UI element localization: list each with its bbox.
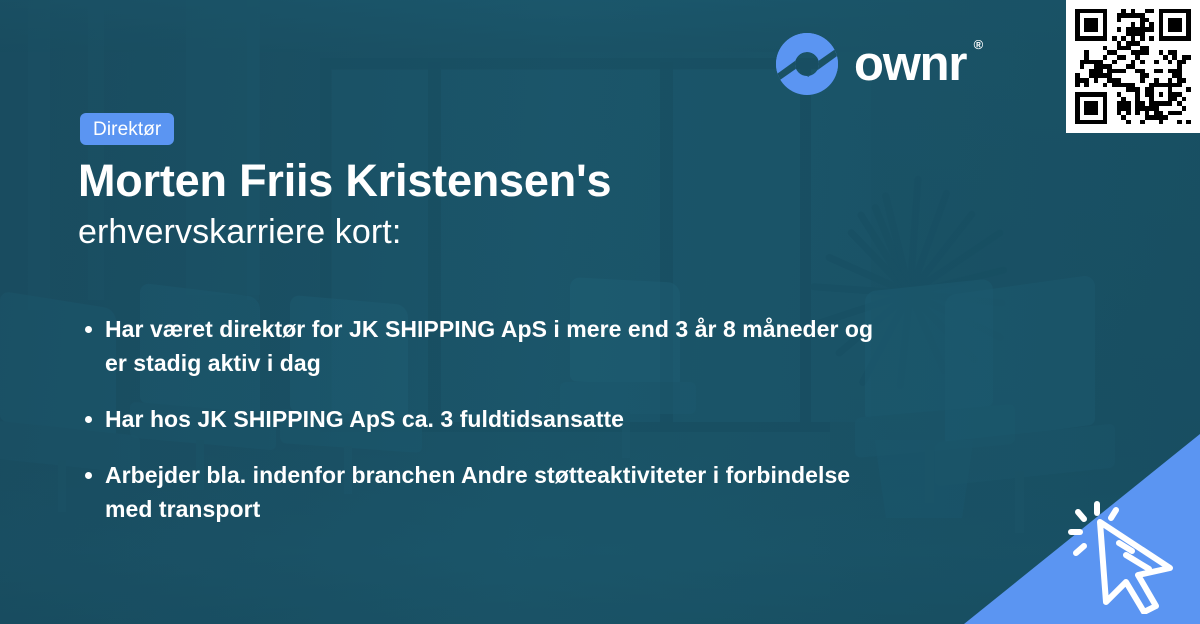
click-cursor-icon (1066, 496, 1186, 614)
bullet-icon (85, 472, 92, 479)
bullet-icon (85, 326, 92, 333)
title-line-2: erhvervskarriere kort: (78, 210, 898, 256)
page-title: Morten Friis Kristensen's erhvervskarrie… (78, 155, 898, 256)
list-item: Arbejder bla. indenfor branchen Andre st… (80, 458, 880, 526)
role-badge: Direktør (80, 113, 174, 145)
list-item: Har været direktør for JK SHIPPING ApS i… (80, 312, 880, 380)
qr-code[interactable] (1066, 0, 1200, 133)
business-card-banner: Direktør Morten Friis Kristensen's erhve… (0, 0, 1200, 624)
bullet-icon (85, 416, 92, 423)
list-item-text: Har hos JK SHIPPING ApS ca. 3 fuldtidsan… (105, 406, 624, 432)
card-content: Direktør Morten Friis Kristensen's erhve… (0, 0, 1200, 624)
list-item-text: Arbejder bla. indenfor branchen Andre st… (105, 462, 850, 522)
list-item-text: Har været direktør for JK SHIPPING ApS i… (105, 316, 873, 376)
ownr-logo[interactable]: ownr ® (776, 33, 966, 95)
career-summary-list: Har været direktør for JK SHIPPING ApS i… (80, 312, 880, 526)
qr-code-matrix (1075, 9, 1191, 125)
ownr-wordmark-text: ownr (854, 37, 966, 91)
list-item: Har hos JK SHIPPING ApS ca. 3 fuldtidsan… (80, 402, 880, 436)
title-line-1: Morten Friis Kristensen's (78, 155, 898, 206)
registered-mark: ® (974, 38, 984, 51)
ownr-wordmark: ownr ® (854, 40, 966, 89)
ownr-circle-slash-logo-icon (776, 33, 838, 95)
